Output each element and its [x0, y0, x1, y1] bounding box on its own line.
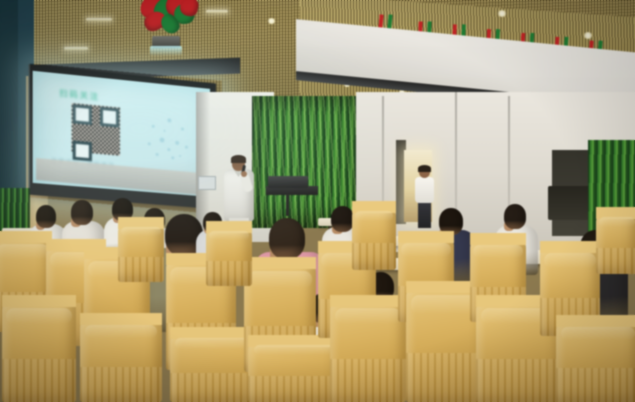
chair-skirt — [80, 367, 162, 402]
chair-skirt — [248, 376, 340, 402]
chair-scallop-top — [352, 201, 396, 213]
chair-group — [0, 0, 635, 402]
chair-scallop-top — [596, 207, 635, 219]
banquet-chair — [206, 226, 252, 286]
chair-scallop-top — [540, 241, 600, 253]
chair-scallop-top — [330, 295, 406, 307]
banquet-chair — [556, 320, 635, 402]
chair-skirt — [406, 353, 486, 402]
chair-scallop-top — [556, 315, 635, 327]
chair-scallop-top — [0, 231, 52, 243]
chair-skirt — [596, 248, 635, 274]
chair-scallop-top — [118, 217, 164, 229]
photo-scene: 扫码关注 长按识别二维码关注 — [0, 0, 635, 402]
banquet-chair — [118, 222, 164, 282]
chair-skirt — [476, 359, 562, 402]
chair-skirt — [352, 243, 396, 270]
chair-scallop-top — [206, 221, 252, 233]
banquet-chair — [352, 206, 396, 270]
chair-scallop-top — [398, 231, 454, 243]
banquet-chair — [80, 318, 162, 402]
chair-scallop-top — [244, 257, 316, 269]
banquet-chair — [2, 300, 76, 402]
chair-skirt — [206, 261, 252, 286]
chair-scallop-top — [470, 233, 526, 245]
banquet-chair — [330, 300, 406, 402]
banquet-chair — [596, 212, 635, 274]
chair-scallop-top — [2, 295, 76, 307]
chair-skirt — [118, 257, 164, 282]
chair-skirt — [2, 359, 76, 402]
banquet-chair — [248, 340, 340, 402]
chair-scallop-top — [80, 313, 162, 325]
chair-skirt — [330, 359, 406, 402]
chair-skirt — [170, 373, 258, 402]
chair-skirt — [556, 368, 635, 402]
